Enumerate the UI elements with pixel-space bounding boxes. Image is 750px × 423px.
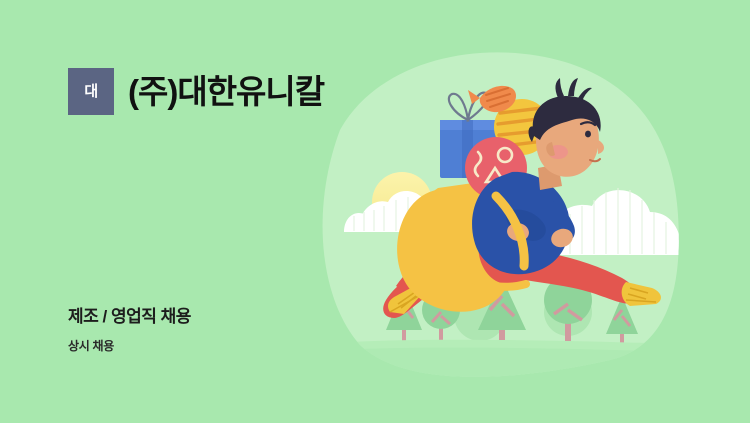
company-logo: 대	[68, 68, 114, 115]
running-delivery-person-illustration	[300, 0, 750, 423]
company-header: 대 (주)대한유니칼	[68, 68, 324, 115]
job-posting-card: 대 (주)대한유니칼 제조 / 영업직 채용 상시 채용	[0, 0, 750, 423]
job-schedule: 상시 채용	[68, 339, 191, 353]
company-name: (주)대한유니칼	[128, 75, 324, 108]
job-title: 제조 / 영업직 채용	[68, 307, 191, 327]
company-logo-text: 대	[84, 84, 97, 99]
eye	[585, 131, 591, 138]
ground	[300, 340, 750, 423]
job-info: 제조 / 영업직 채용 상시 채용	[68, 307, 191, 354]
